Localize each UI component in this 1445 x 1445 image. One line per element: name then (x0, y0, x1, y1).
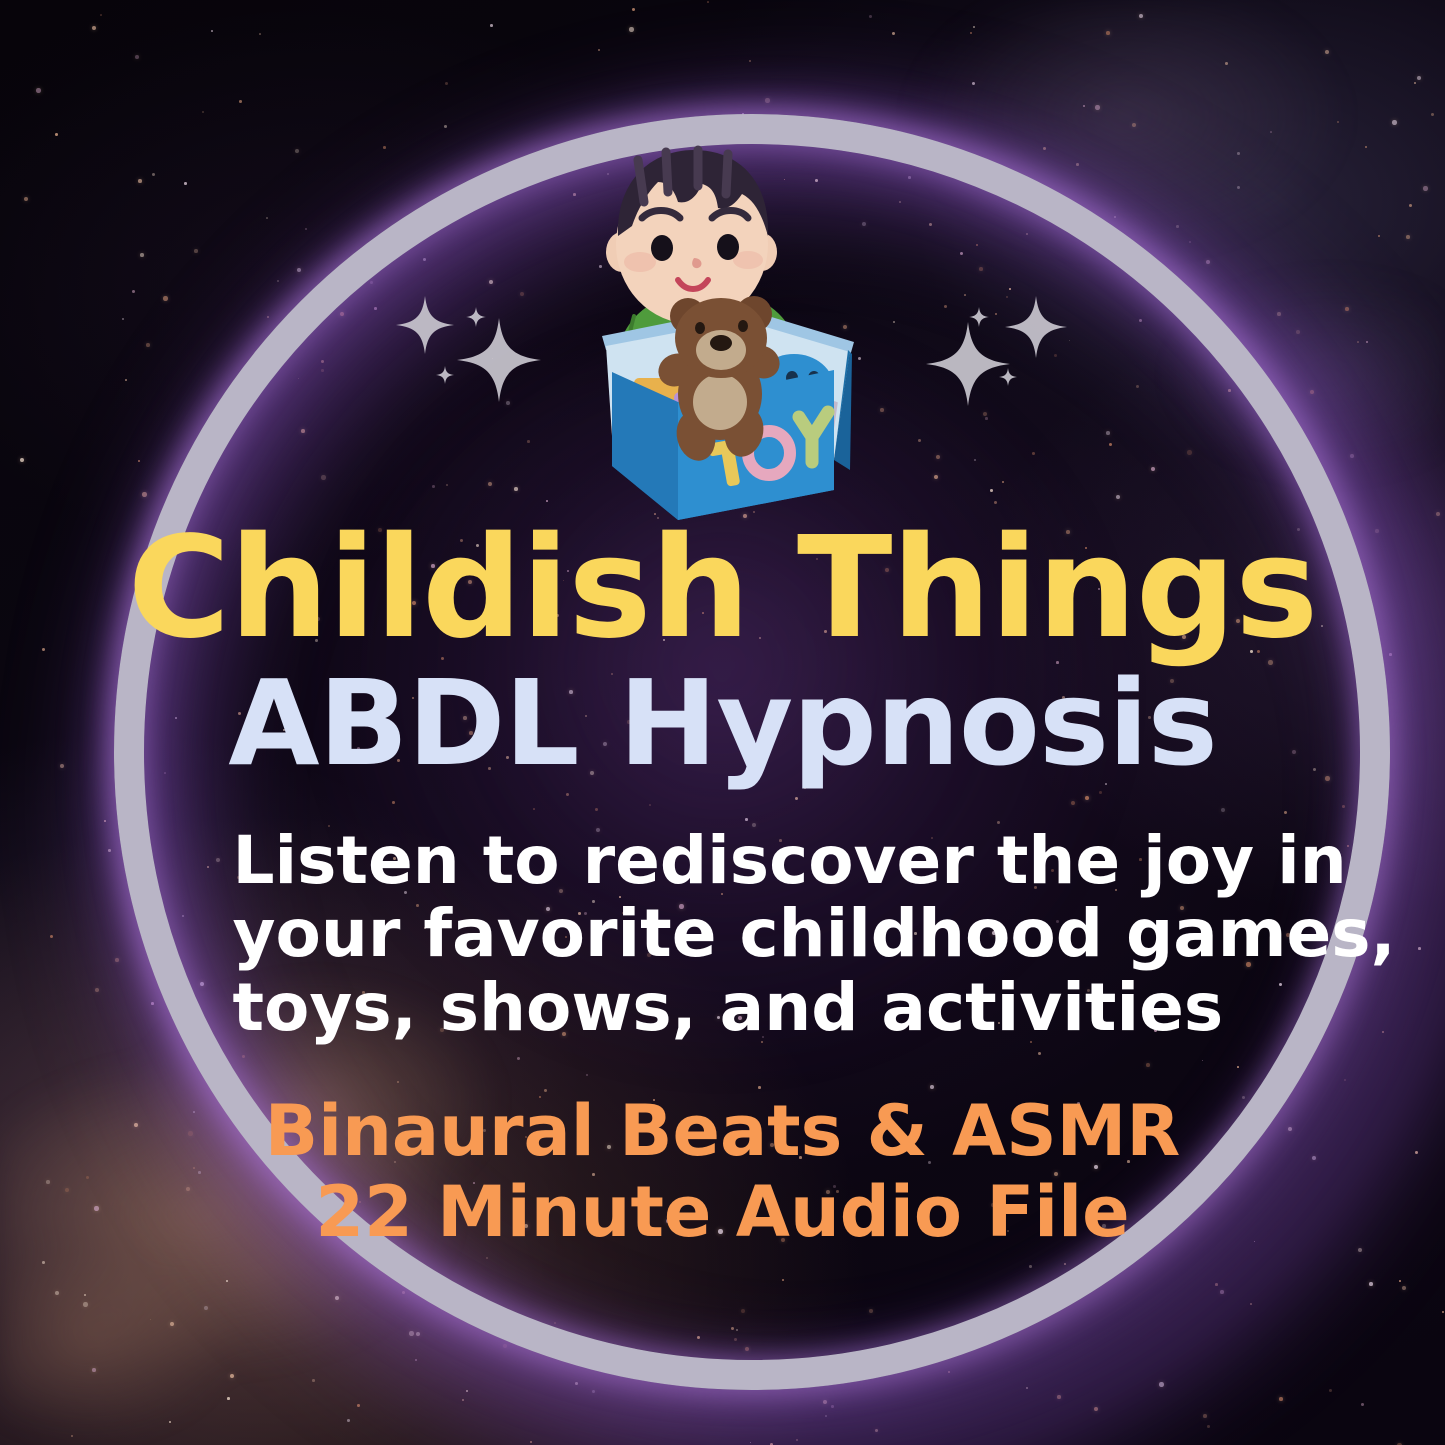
description-text: Listen to rediscover the joy in your fav… (233, 824, 1213, 1046)
description-line: Listen to rediscover the joy in (233, 824, 1213, 898)
sparkle-icon (396, 296, 454, 354)
sparkle-icon (926, 322, 1010, 406)
sparkle-small-icon (436, 366, 454, 384)
sparkle-small-icon (999, 368, 1017, 386)
poster-canvas: Childish Things ABDL Hypnosis Listen to … (0, 0, 1445, 1445)
sparkle-icon (1005, 296, 1067, 358)
sparkle-small-icon (466, 307, 486, 327)
child-with-toy-box-illustration (566, 140, 876, 520)
footer-line: Binaural Beats & ASMR (193, 1091, 1253, 1172)
poster-text-block: Childish Things ABDL Hypnosis Listen to … (0, 520, 1445, 1254)
sparkle-icon (457, 318, 541, 402)
footer-text: Binaural Beats & ASMR 22 Minute Audio Fi… (193, 1091, 1253, 1253)
sparkle-small-icon (969, 307, 989, 327)
description-line: your favorite childhood games, (233, 897, 1213, 971)
page-subtitle: ABDL Hypnosis (0, 663, 1445, 783)
footer-line: 22 Minute Audio File (193, 1172, 1253, 1253)
page-title: Childish Things (0, 520, 1445, 657)
description-line: toys, shows, and activities (233, 971, 1213, 1045)
